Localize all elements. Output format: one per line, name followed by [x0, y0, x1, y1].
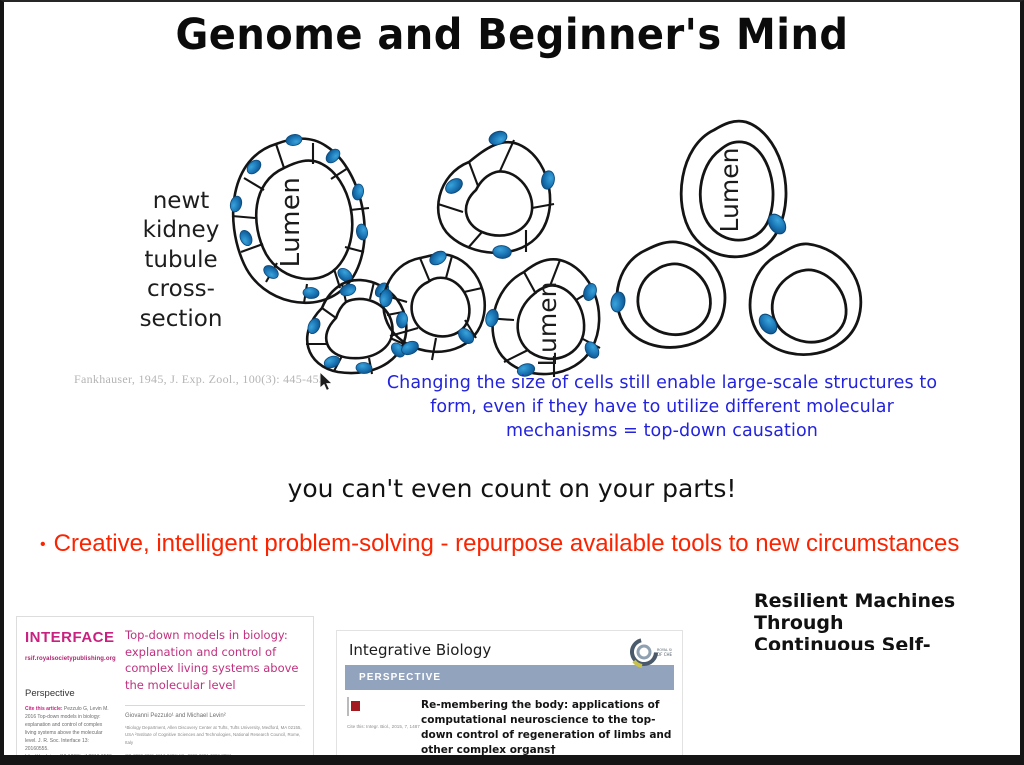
paper-orcid: GP, 0000-0001-6813-8282; ML, 0000-0001-7…	[125, 752, 305, 760]
intbio-sidebar: Cite this: Integr. Biol., 2015, 7, 1487	[347, 698, 421, 765]
paper-thumbnail-interface[interactable]: INTERFACE rsif.royalsocietypublishing.or…	[16, 616, 314, 765]
article-type-bar: PERSPECTIVE	[345, 665, 674, 690]
doi-link[interactable]: http://dx.doi.org/10.1098/rsif.2016.0555	[25, 754, 112, 760]
journal-brand: INTERFACE	[25, 629, 111, 646]
lumen-label: Lumen	[533, 282, 562, 367]
presentation-slide: Genome and Beginner's Mind newt kidney t…	[0, 0, 1024, 765]
interface-masthead: INTERFACE rsif.royalsocietypublishing.or…	[17, 617, 117, 765]
red-bullet-point: •Creative, intelligent problem-solving -…	[40, 530, 990, 558]
cite-this: Cite this: Integr. Biol., 2015, 7, 1487	[347, 723, 421, 731]
paper-authors: Giovanni Pezzulo¹ and Michael Levin²	[125, 705, 305, 719]
nuclei-group-3b	[609, 291, 626, 313]
paper-title-line2: Continuous Self-Modeling	[754, 634, 1022, 650]
cite-body: Pezzulo G, Levin M. 2016 Top-down models…	[25, 706, 109, 752]
paper-thumbnail-integrative-biology[interactable]: ROYAL SOCIETY OF CHEMISTRY Integrative B…	[336, 630, 683, 765]
tubule-group-intermediate-top	[438, 140, 554, 253]
journal-url: rsif.royalsocietypublishing.org	[25, 656, 111, 662]
paper-title: Resilient Machines Through Continuous Se…	[754, 590, 1022, 650]
mouse-cursor-icon	[320, 372, 334, 392]
cite-this-article: Cite this article: Pezzulo G, Levin M. 2…	[25, 705, 111, 761]
article-section: Perspective	[25, 688, 111, 699]
bullet-glyph: •	[40, 536, 46, 554]
nuclei-group-2b	[379, 248, 477, 357]
paper-title: Re-membering the body: applications of c…	[421, 698, 672, 765]
blue-annotation: Changing the size of cells still enable …	[378, 371, 946, 443]
figure-citation: Fankhauser, 1945, J. Exp. Zool., 100(3):…	[74, 372, 325, 387]
paper-title-text: Re-membering the body: applications of c…	[421, 699, 671, 756]
red-bullet-label: Creative, intelligent problem-solving - …	[54, 530, 960, 557]
nuclei-group-3a	[765, 211, 790, 237]
svg-text:OF CHEMISTRY: OF CHEMISTRY	[657, 652, 672, 657]
interface-article: Top-down models in biology: explanation …	[117, 617, 313, 765]
tubule-group-high-ploidy-right	[750, 244, 861, 355]
punchline-text: you can't even count on your parts!	[4, 474, 1020, 503]
paper-title: Top-down models in biology: explanation …	[125, 627, 305, 694]
tubule-diagram: Lumen	[214, 112, 914, 377]
page-title: Genome and Beginner's Mind	[40, 10, 985, 60]
crossmark-icon	[347, 697, 349, 716]
tubule-group-high-ploidy-left	[617, 242, 725, 348]
paper-affiliations: ¹Biology Department, Allen Discovery Cen…	[125, 724, 305, 747]
lumen-label: Lumen	[276, 177, 306, 268]
paper-thumbnail-resilient-machines[interactable]: Resilient Machines Through Continuous Se…	[754, 590, 1022, 650]
cite-label: Cite this article:	[25, 706, 63, 712]
lumen-label: Lumen	[715, 148, 744, 233]
nuclei-group-2a	[443, 129, 556, 259]
paper-title-line1: Resilient Machines Through	[754, 590, 1022, 634]
royal-society-of-chemistry-logo: ROYAL SOCIETY OF CHEMISTRY	[628, 637, 672, 671]
